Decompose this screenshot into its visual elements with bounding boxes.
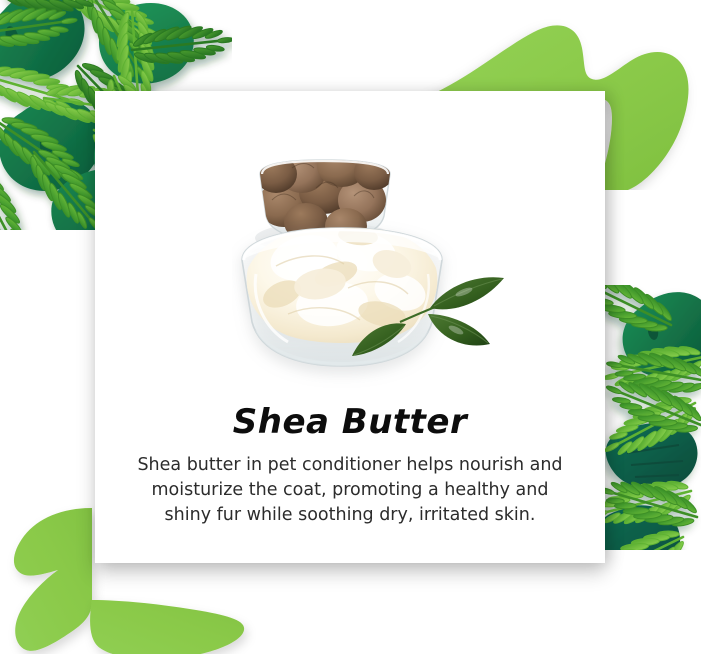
shea-butter-bowl <box>242 225 442 366</box>
poster-canvas: Shea Butter Shea butter in pet condition… <box>0 0 701 654</box>
product-photo <box>232 108 522 408</box>
text-block: Shea Butter Shea butter in pet condition… <box>115 404 585 528</box>
product-description: Shea butter in pet conditioner helps nou… <box>130 453 570 528</box>
page-title: Shea Butter <box>115 404 585 441</box>
